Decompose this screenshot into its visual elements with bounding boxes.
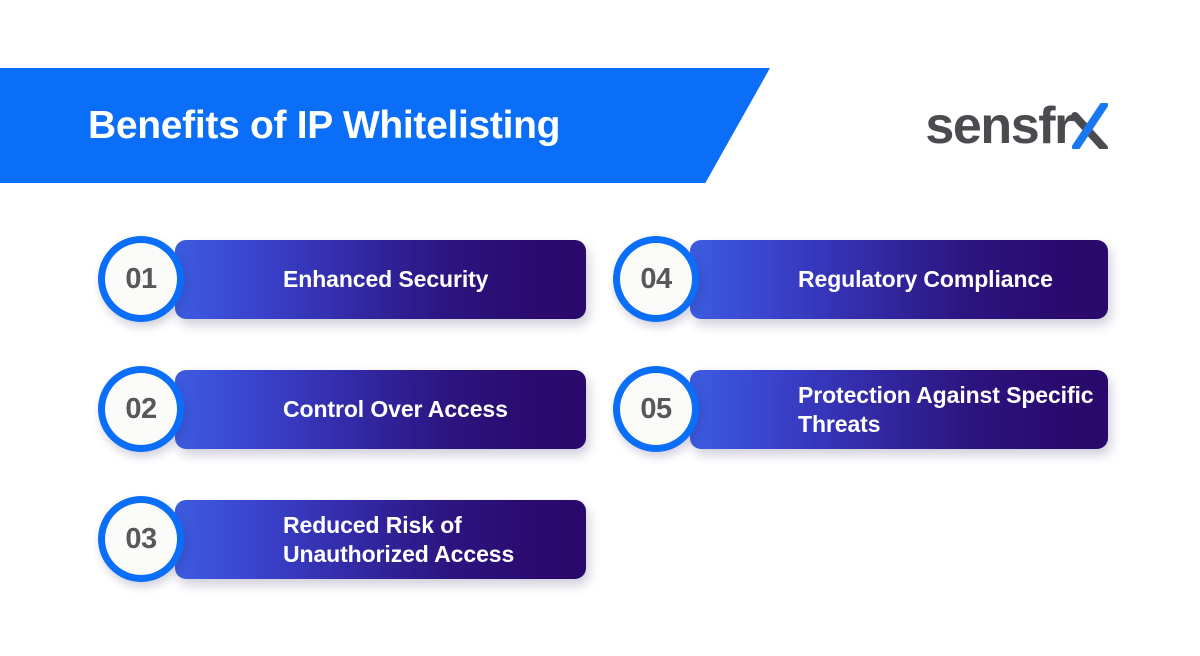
item-badge-inner: 03 xyxy=(105,503,177,575)
item-number-badge: 04 xyxy=(613,236,699,322)
logo-wordmark-text: sensfr xyxy=(925,97,1073,155)
list-item-number: 01 xyxy=(125,263,156,296)
list-item-label: Reduced Risk of Unauthorized Access xyxy=(283,511,514,567)
list-item-number: 03 xyxy=(125,523,156,556)
list-item[interactable]: Regulatory Compliance 04 xyxy=(613,228,1108,320)
list-item-label: Enhanced Security xyxy=(283,265,488,293)
item-number-badge: 05 xyxy=(613,366,699,452)
item-number-badge: 01 xyxy=(98,236,184,322)
item-badge-inner: 04 xyxy=(620,243,692,315)
list-item-number: 04 xyxy=(640,263,671,296)
page-title: Benefits of IP Whitelisting xyxy=(88,68,560,183)
item-bar: Control Over Access xyxy=(175,370,586,449)
list-item[interactable]: Control Over Access 02 xyxy=(98,358,586,450)
list-item-number: 02 xyxy=(125,393,156,426)
item-badge-inner: 02 xyxy=(105,373,177,445)
list-item[interactable]: Protection Against Specific Threats 05 xyxy=(613,358,1108,450)
list-item-label: Regulatory Compliance xyxy=(798,265,1053,293)
item-bar: Reduced Risk of Unauthorized Access xyxy=(175,500,586,579)
brand-logo[interactable]: sensfr xyxy=(925,68,1108,183)
logo-x-icon xyxy=(1070,103,1108,149)
item-bar: Enhanced Security xyxy=(175,240,586,319)
list-item[interactable]: Reduced Risk of Unauthorized Access 03 xyxy=(98,488,586,580)
logo-wordmark: sensfr xyxy=(925,100,1108,152)
list-item[interactable]: Enhanced Security 01 xyxy=(98,228,586,320)
benefits-list: Enhanced Security 01 Control Over Access… xyxy=(0,228,1200,598)
item-number-badge: 03 xyxy=(98,496,184,582)
list-item-number: 05 xyxy=(640,393,671,426)
item-bar: Regulatory Compliance xyxy=(690,240,1108,319)
item-number-badge: 02 xyxy=(98,366,184,452)
infographic-page: { "header": { "title": "Benefits of IP W… xyxy=(0,0,1200,656)
item-badge-inner: 01 xyxy=(105,243,177,315)
list-item-label: Protection Against Specific Threats xyxy=(798,381,1094,437)
header: Benefits of IP Whitelisting sensfr xyxy=(0,68,1200,183)
item-badge-inner: 05 xyxy=(620,373,692,445)
item-bar: Protection Against Specific Threats xyxy=(690,370,1108,449)
list-item-label: Control Over Access xyxy=(283,395,508,423)
